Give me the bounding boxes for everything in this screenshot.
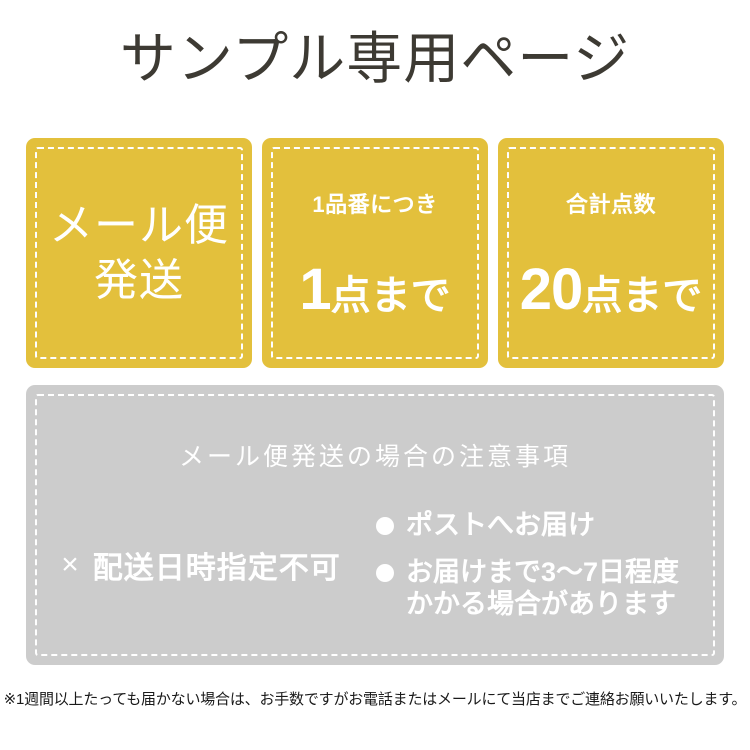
page-title: サンプル専用ページ <box>0 28 750 90</box>
notice-panel: メール便発送の場合の注意事項 × 配送日時指定不可 ポストへお届け お届けまで3… <box>26 385 724 665</box>
per-item-limit-unit: 点まで <box>331 276 451 316</box>
bullet-text: ポストへお届け <box>406 509 595 541</box>
per-item-limit-number: 1 <box>299 261 330 319</box>
bullet-dot-icon <box>376 564 394 582</box>
per-item-limit-caption: 1品番につき <box>312 187 437 219</box>
footer-note: ※1週間以上たっても届かない場合は、お手数ですがお電話またはメールにて当店までご… <box>0 688 750 709</box>
shipping-method-line1: メール便 <box>49 198 229 253</box>
feature-box-shipping-method: メール便 発送 <box>26 138 252 368</box>
notice-restriction: × 配送日時指定不可 <box>26 543 376 587</box>
feature-box-per-item-limit: 1品番につき 1 点まで <box>262 138 488 368</box>
total-limit-value: 20 点まで <box>520 261 703 319</box>
bullet-text: お届けまで3〜7日程度 かかる場合があります <box>406 556 679 621</box>
feature-box-row: メール便 発送 1品番につき 1 点まで 合計点数 20 点まで <box>26 138 724 368</box>
bullet-line-1: お届けまで3〜7日程度 <box>406 557 679 587</box>
total-limit-unit: 点まで <box>582 276 702 316</box>
bullet-line-1: ポストへお届け <box>406 510 595 540</box>
notice-bullet-list: ポストへお届け お届けまで3〜7日程度 かかる場合があります <box>376 509 724 620</box>
list-item: お届けまで3〜7日程度 かかる場合があります <box>376 556 724 621</box>
bullet-line-2: かかる場合があります <box>406 588 679 620</box>
total-limit-number: 20 <box>520 261 583 319</box>
notice-heading: メール便発送の場合の注意事項 <box>26 437 724 473</box>
notice-restriction-text: 配送日時指定不可 <box>93 543 341 587</box>
feature-box-total-limit-content: 合計点数 20 点まで <box>498 138 724 368</box>
total-limit-caption: 合計点数 <box>566 187 656 219</box>
per-item-limit-value: 1 点まで <box>299 261 450 319</box>
shipping-method-line2: 発送 <box>94 253 184 308</box>
feature-box-total-limit: 合計点数 20 点まで <box>498 138 724 368</box>
bullet-dot-icon <box>376 517 394 535</box>
list-item: ポストへお届け <box>376 509 724 541</box>
notice-body: × 配送日時指定不可 ポストへお届け お届けまで3〜7日程度 かかる場合がありま… <box>26 495 724 635</box>
feature-box-shipping-method-content: メール便 発送 <box>26 138 252 368</box>
cross-icon: × <box>61 550 79 580</box>
feature-box-per-item-limit-content: 1品番につき 1 点まで <box>262 138 488 368</box>
